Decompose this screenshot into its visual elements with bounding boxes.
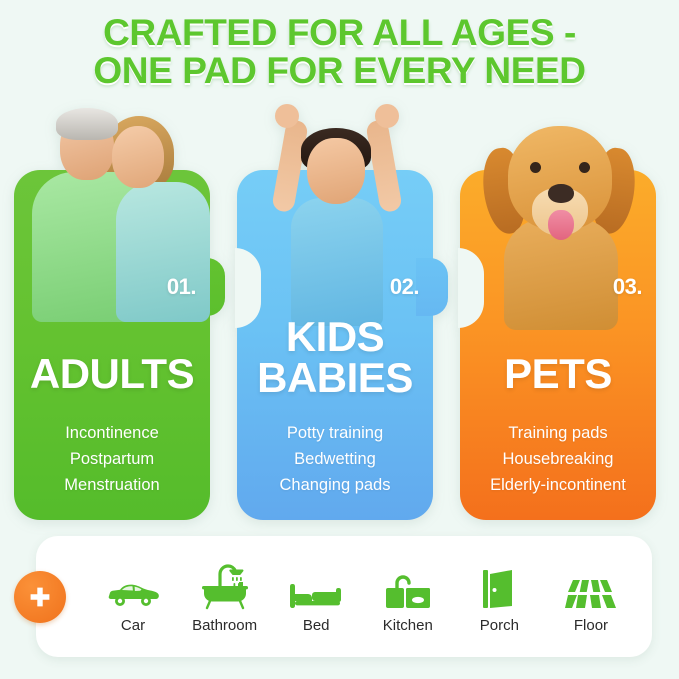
card-use-case-list: Potty training Bedwetting Changing pads bbox=[247, 420, 423, 498]
card-number-badge: 02. bbox=[390, 274, 419, 300]
card-use-case-list: Incontinence Postpartum Menstruation bbox=[24, 420, 200, 498]
usage-item-porch[interactable]: Porch bbox=[454, 560, 544, 634]
list-item: Menstruation bbox=[24, 472, 200, 498]
card-content: ADULTS Incontinence Postpartum Menstruat… bbox=[14, 353, 210, 520]
usage-label: Porch bbox=[480, 617, 519, 634]
card-number-badge: 01. bbox=[167, 274, 196, 300]
woman-torso bbox=[116, 182, 210, 322]
list-item: Incontinence bbox=[24, 420, 200, 446]
list-item: Housebreaking bbox=[470, 446, 646, 472]
card-content: PETS Training pads Housebreaking Elderly… bbox=[460, 353, 656, 520]
headline-line-1: CRAFTED FOR ALL AGES - bbox=[103, 14, 576, 52]
dog-tongue bbox=[548, 210, 574, 240]
dog-nose bbox=[548, 184, 574, 203]
usage-label: Car bbox=[121, 617, 145, 634]
man-hair bbox=[56, 108, 118, 140]
floor-planks-icon bbox=[564, 560, 618, 610]
card-number-badge: 03. bbox=[613, 274, 642, 300]
photo-group bbox=[251, 96, 421, 336]
child-right-arm bbox=[365, 119, 403, 213]
audience-card-pets[interactable]: 03. PETS Training pads Housebreaking Eld… bbox=[460, 170, 656, 520]
usage-label: Floor bbox=[574, 617, 608, 634]
child-left-hand bbox=[275, 104, 299, 128]
audience-cards: 01. ADULTS Incontinence Postpartum Menst… bbox=[0, 170, 679, 520]
list-item: Potty training bbox=[247, 420, 423, 446]
senior-couple-photo bbox=[14, 100, 210, 380]
list-item: Training pads bbox=[470, 420, 646, 446]
bathtub-shower-icon bbox=[199, 560, 251, 610]
woman-head bbox=[112, 126, 164, 188]
bed-icon bbox=[288, 560, 344, 610]
list-item: Bedwetting bbox=[247, 446, 423, 472]
plus-icon bbox=[27, 584, 53, 610]
usage-item-bathroom[interactable]: Bathroom bbox=[180, 560, 270, 634]
car-icon bbox=[106, 560, 160, 610]
plus-badge bbox=[14, 571, 66, 623]
card-use-case-list: Training pads Housebreaking Elderly-inco… bbox=[470, 420, 646, 498]
list-item: Postpartum bbox=[24, 446, 200, 472]
usage-label: Bathroom bbox=[192, 617, 257, 634]
card-title: KIDS BABIES bbox=[247, 316, 423, 398]
kitchen-sink-icon bbox=[383, 560, 433, 610]
audience-card-adults[interactable]: 01. ADULTS Incontinence Postpartum Menst… bbox=[14, 170, 210, 520]
usage-item-kitchen[interactable]: Kitchen bbox=[363, 560, 453, 634]
child-head bbox=[307, 138, 365, 204]
usage-locations-bar: Car bbox=[36, 536, 652, 657]
usage-item-bed[interactable]: Bed bbox=[271, 560, 361, 634]
usage-label: Bed bbox=[303, 617, 330, 634]
card-content: KIDS BABIES Potty training Bedwetting Ch… bbox=[237, 316, 433, 521]
usage-item-car[interactable]: Car bbox=[88, 560, 178, 634]
usage-item-floor[interactable]: Floor bbox=[546, 560, 636, 634]
audience-card-kids-babies[interactable]: 02. KIDS BABIES Potty training Bedwettin… bbox=[237, 170, 433, 520]
dog-left-eye bbox=[530, 162, 541, 173]
child-torso bbox=[291, 198, 383, 326]
page-header: CRAFTED FOR ALL AGES - ONE PAD FOR EVERY… bbox=[0, 0, 679, 104]
headline-line-2: ONE PAD FOR EVERY NEED bbox=[93, 52, 585, 90]
child-left-arm bbox=[271, 119, 309, 213]
card-title: PETS bbox=[470, 353, 646, 394]
golden-retriever-dog-photo bbox=[460, 100, 656, 380]
list-item: Elderly-incontinent bbox=[470, 472, 646, 498]
dog-right-eye bbox=[579, 162, 590, 173]
card-title-line-1: KIDS bbox=[247, 316, 423, 357]
card-title: ADULTS bbox=[24, 353, 200, 394]
usage-label: Kitchen bbox=[383, 617, 433, 634]
list-item: Changing pads bbox=[247, 472, 423, 498]
card-title-line-2: BABIES bbox=[247, 357, 423, 398]
usage-items: Car bbox=[36, 560, 652, 634]
child-right-hand bbox=[375, 104, 399, 128]
door-icon bbox=[480, 560, 518, 610]
